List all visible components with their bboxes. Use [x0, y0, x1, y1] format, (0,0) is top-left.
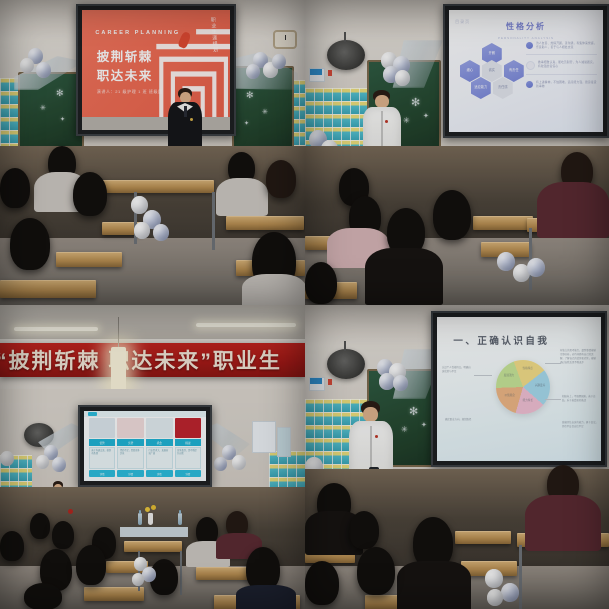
- balloon-aisle-bl-2: [142, 567, 156, 582]
- balloon-aisle-br-3: [487, 589, 503, 606]
- water-bottle-bl-1: [138, 513, 142, 525]
- desk-bl-1: [124, 541, 182, 552]
- pie-slice-label-4: 发展潜力: [502, 374, 516, 378]
- balloon-tl-6: [272, 54, 286, 69]
- balloon-bl-3: [52, 457, 66, 472]
- snowflake-icon: ✦: [60, 116, 65, 123]
- projection-screen-bl: 优势 善于沟通交流，做事有条理 详情 劣势 经验不足，需要更多历练 详情: [78, 405, 212, 487]
- balloon-aisle-br-2: [501, 583, 519, 602]
- snowflake-icon: ✻: [411, 96, 420, 109]
- pie-slice-label-2: 能力特长: [521, 399, 535, 403]
- card-button-1[interactable]: 详情: [117, 470, 144, 476]
- wall-clock-tl: [273, 30, 297, 49]
- vase-bl-1: [148, 513, 153, 525]
- panel-bottom-left: “披荆斩棘 职达未来”职业生: [0, 305, 305, 609]
- student-head-br-3: [349, 511, 379, 549]
- bullet-row-2: 有上进精神，不怕困难，适应能力强，愿意接受新事物: [526, 81, 597, 93]
- bullet-dot-icon: [526, 81, 533, 88]
- student-head-tr-4: [433, 190, 471, 240]
- card-button-3[interactable]: 详情: [175, 470, 202, 476]
- slide-personality-analysis: 目录页 性格分析 PERSONALITY ANALYSIS 开朗 细心 诚实 有…: [449, 10, 603, 132]
- student-head-br-6: [305, 561, 339, 605]
- student-head-tl-5: [266, 160, 296, 198]
- desk-leg-br-1: [519, 545, 522, 609]
- hexagon-item-4: 适应能力: [471, 77, 491, 99]
- presenter-badge: [190, 118, 193, 121]
- slide-four-cards: 优势 善于沟通交流，做事有条理 详情 劣势 经验不足，需要更多历练 详情: [84, 411, 206, 481]
- card-body-1: 经验不足，需要更多历练: [117, 447, 144, 468]
- student-head-bl-2: [52, 521, 74, 549]
- snowflake-icon: ✻: [56, 88, 64, 99]
- leader-line-1: [474, 375, 492, 376]
- student-head-br-5: [357, 547, 395, 595]
- wall-notice-tr: [328, 70, 332, 76]
- snowflake-icon: ✳: [40, 104, 46, 112]
- balloon-aisle-br-1: [485, 569, 503, 588]
- bullet-row-1: 做事细致认真，能吃苦耐劳，为人诚恳踏实，有较强的责任心: [526, 61, 597, 75]
- balloon-bl-7: [0, 451, 14, 466]
- desk-tl-2: [226, 216, 304, 230]
- flower-yellow-bl: [145, 507, 150, 512]
- event-banner-bl: “披荆斩棘 职达未来”职业生: [0, 343, 305, 377]
- bullet-text-1: 做事细致认真，能吃苦耐劳，为人诚恳踏实，有较强的责任心: [538, 61, 597, 69]
- pie-slice-label-1: 兴趣爱好: [533, 384, 547, 388]
- snowflake-icon: ✳: [403, 116, 410, 125]
- slide-subtitle: PERSONALITY ANALYSIS: [498, 36, 554, 40]
- desk-tr-1: [473, 216, 533, 230]
- slide-english-title: CAREER PLANNING: [95, 30, 180, 36]
- hexagon-item-5: 责任感: [493, 77, 513, 99]
- ceiling-tube-light-bl-2: [196, 323, 296, 327]
- balloon-aisle-bl-3: [132, 573, 144, 586]
- desk-tl-4: [56, 252, 122, 267]
- student-head-bl-9: [24, 583, 62, 609]
- balloon-aisle-tr-3: [527, 258, 545, 277]
- balloon-bl-2: [36, 455, 49, 469]
- balloon-tl-2: [20, 58, 34, 73]
- front-table-bl: [120, 527, 188, 537]
- flower-red-bl: [68, 509, 73, 514]
- balloon-aisle-tl-3: [134, 222, 150, 239]
- flower-yellow-bl-2: [151, 505, 156, 510]
- student-body-br-4: [397, 561, 471, 609]
- bullet-row-0: 为人友善、热情开朗，善沟通，有集体荣誉感，乐意助人，善于与人相处交流: [526, 42, 597, 55]
- card-1: 劣势 经验不足，需要更多历练 详情: [117, 418, 144, 477]
- student-head-bl-8: [76, 545, 106, 585]
- student-body-tr-3: [365, 248, 443, 305]
- poster-graphic-tr: [310, 69, 322, 75]
- slide-title: 一、正确认识自我: [453, 333, 549, 347]
- card-image-2: [146, 418, 173, 438]
- student-head-tl-6: [10, 218, 50, 270]
- student-body-tr-5: [537, 182, 609, 238]
- photo-collage: ✻ ✳ ✦ ✻ ✳ ✦: [0, 0, 609, 609]
- card-image-1: [117, 418, 144, 438]
- desk-tl-1: [94, 180, 214, 193]
- desk-leg-tl-2: [212, 192, 215, 250]
- projection-screen-tl: 职业生涯规划 CAREER PLANNING 披荆斩棘 职达未来 演讲人：21 …: [76, 4, 236, 136]
- balloon-tl-7: [246, 64, 260, 79]
- pie-note-top-right: 有独立的思考能力，遇到事情能够冷静分析，对待问题有自己的见解，了解自己的优势和劣…: [560, 349, 598, 365]
- projection-screen-br: 一、正确认识自我 性格特点兴趣爱好能力特长价值观念发展潜力 有独立的思考能力，遇…: [431, 311, 607, 467]
- balloon-aisle-tl-4: [153, 224, 169, 241]
- wall-notice-bl: [277, 427, 291, 457]
- balloon-bl-5: [232, 455, 246, 470]
- wall-ledge-bl: [0, 389, 305, 403]
- balloon-tl-3: [36, 62, 51, 78]
- slide-corner-label: 目录页: [455, 19, 470, 25]
- student-body-br-1: [525, 495, 601, 551]
- card-body-2: 行业需求大，发展前景广阔: [146, 447, 173, 468]
- card-header-2: 机会: [146, 439, 173, 445]
- student-body-tl-7: [242, 274, 305, 305]
- snowflake-icon: ✦: [423, 112, 429, 120]
- banner-text: “披荆斩棘 职达未来”职业生: [0, 345, 282, 375]
- slide-self-awareness: 一、正确认识自我 性格特点兴趣爱好能力特长价值观念发展潜力 有独立的思考能力，遇…: [437, 317, 601, 461]
- pie-note-bottom-right: 准确评估自身的能力，勇于尝试，但也不盲目自信不足: [562, 421, 598, 429]
- card-header-1: 劣势: [117, 439, 144, 445]
- card-body-0: 善于沟通交流，做事有条理: [89, 447, 116, 468]
- bullet-text-0: 为人友善、热情开朗，善沟通，有集体荣誉感，乐意助人，善于与人相处交流: [536, 42, 597, 50]
- balloon-bl-6: [214, 457, 227, 471]
- student-head-tl-3: [0, 168, 30, 208]
- bullet-list: 为人友善、热情开朗，善沟通，有集体荣誉感，乐意助人，善于与人相处交流 做事细致认…: [526, 42, 597, 100]
- presenter-badge: [385, 120, 388, 123]
- student-body-tl-4: [216, 178, 268, 216]
- presenter-tie: [184, 106, 187, 117]
- desk-leg-bl-2: [180, 551, 182, 595]
- poster-graphic-br: [310, 378, 322, 384]
- student-head-tl-2: [73, 172, 107, 216]
- card-0: 优势 善于沟通交流，做事有条理 详情: [89, 418, 116, 477]
- panel-top-left: ✻ ✳ ✦ ✻ ✳ ✦: [0, 0, 305, 305]
- balloon-tr-4: [395, 70, 410, 86]
- snowflake-icon: ✳: [401, 425, 408, 434]
- bullet-text-2: 有上进精神，不怕困难，适应能力强，愿意接受新事物: [536, 81, 597, 89]
- leader-line-3: [545, 399, 561, 400]
- presenter-face: [363, 407, 378, 422]
- card-header-3: 挑战: [175, 439, 202, 445]
- slide-title: 性格分析: [506, 21, 546, 32]
- bullet-dot-icon: [526, 61, 535, 70]
- desk-tl-6: [0, 280, 96, 298]
- presenter-badge: [375, 435, 378, 438]
- snowflake-icon: ✦: [244, 120, 249, 127]
- hexagon-item-1: 细心: [460, 60, 480, 82]
- ceiling-tube-light-bl: [14, 327, 98, 331]
- fan-mount-tr: [344, 32, 346, 42]
- water-bottle-bl-2: [178, 513, 182, 525]
- snowflake-icon: ✻: [246, 90, 254, 101]
- hexagon-item-3: 有责任: [504, 60, 524, 82]
- slide-logo-tag: [88, 412, 98, 416]
- balloon-br-4: [393, 375, 408, 391]
- desk-br-1: [455, 531, 511, 544]
- card-image-3: [175, 418, 202, 438]
- hexagon-cluster: 开朗 细心 诚实 有责任 适应能力 责任感: [460, 43, 522, 119]
- balloon-aisle-tr-1: [497, 252, 515, 271]
- card-button-0[interactable]: 详情: [89, 470, 116, 476]
- card-3: 挑战 竞争激烈，需不断提升自我 详情: [175, 418, 202, 477]
- pie-slice-label-3: 价值观念: [503, 394, 517, 398]
- pie-chart: 性格特点兴趣爱好能力特长价值观念发展潜力: [496, 360, 550, 414]
- card-button-2[interactable]: 详情: [146, 470, 173, 476]
- pie-slice-label-0: 性格特点: [521, 367, 535, 371]
- card-header-0: 优势: [89, 439, 116, 445]
- slide-career-planning: 职业生涯规划 CAREER PLANNING 披荆斩棘 职达未来 演讲人：21 …: [82, 10, 230, 130]
- pie-note-left-lower: 确定职业方向，规划路径: [445, 418, 475, 422]
- card-2: 机会 行业需求大，发展前景广阔 详情: [146, 418, 173, 477]
- slide-footer-bar: [82, 117, 230, 130]
- student-head-bl-6: [0, 531, 24, 561]
- bullet-dot-icon: [526, 42, 533, 49]
- student-head-bl-1: [30, 513, 50, 539]
- slide-subtitle: 演讲人：21 级护理 1 班 班级团: [97, 89, 163, 95]
- snowflake-icon: ✻: [409, 405, 418, 418]
- fan-mount-br: [344, 341, 346, 351]
- panel-bottom-right: ✻ ✳ ✦ 一、正确认识自我 性格特点兴趣爱好能力特长价值观念发展潜力 有独立的…: [305, 305, 609, 609]
- leader-line-2: [545, 363, 561, 364]
- projection-screen-tr: 目录页 性格分析 PERSONALITY ANALYSIS 开朗 细心 诚实 有…: [443, 4, 609, 138]
- hexagon-item-2: 诚实: [482, 60, 502, 82]
- card-body-3: 竞争激烈，需不断提升自我: [175, 447, 202, 468]
- lamp-cord-bl: [118, 317, 119, 349]
- pie-note-left-upper: 认识个人性格特点，明确自身优势与不足: [442, 366, 472, 374]
- slide-chinese-line2: 职达未来: [97, 65, 153, 84]
- snowflake-icon: ✦: [421, 421, 427, 429]
- wall-fan-tr: [327, 40, 365, 70]
- wall-poster-bl: [252, 421, 276, 453]
- ceiling-bl: [0, 305, 305, 339]
- wall-notice-br: [328, 379, 332, 385]
- slide-chinese-line1: 披荆斩棘: [97, 46, 153, 65]
- slide-top-bar: [84, 411, 206, 417]
- snowflake-icon: ✳: [262, 108, 268, 116]
- wall-fan-br: [327, 349, 365, 379]
- student-body-bl-10: [236, 585, 296, 609]
- card-image-0: [89, 418, 116, 438]
- panel-top-right: ✻ ✳ ✦ 目录页 性格分析 PERSONALITY ANALYSIS 开朗: [305, 0, 609, 305]
- hanging-lamp-bl: [111, 347, 126, 391]
- desk-bl-5: [84, 587, 144, 601]
- pie-note-middle-right: 积极向上，不畏惧困难，善于总结，乐于接受新的挑战: [562, 395, 598, 403]
- student-head-tr-6: [305, 262, 337, 304]
- card-row: 优势 善于沟通交流，做事有条理 详情 劣势 经验不足，需要更多历练 详情: [89, 418, 201, 477]
